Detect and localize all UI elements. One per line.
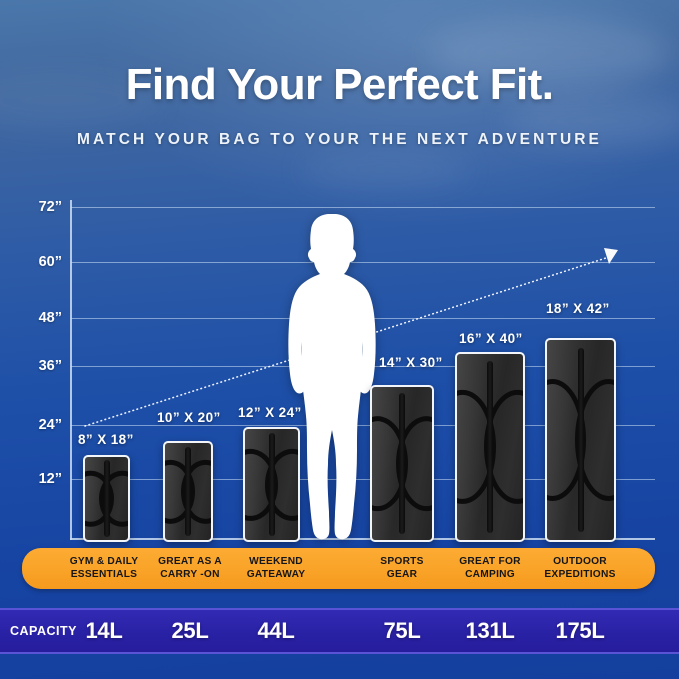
bag-size-label-5: 16” X 40” [459,331,523,346]
category-label-4: SPORTS GEAR [380,556,423,581]
size-comparison-chart: 72”60”48”36”24”12” 8” X 18”10” X 20”12” … [0,0,679,545]
y-axis-tick-label: 48” [12,310,62,326]
bag-size-label-1: 8” X 18” [78,432,134,447]
capacity-value-2: 25L [171,618,208,644]
bag-spine [399,393,405,534]
category-label-6: OUTDOOR EXPEDITIONS [544,556,615,581]
infographic-canvas: Find Your Perfect Fit. MATCH YOUR BAG TO… [0,0,679,679]
bag-spine [487,361,493,532]
y-axis-tick-label: 72” [12,199,62,215]
bag-6[interactable] [545,338,616,542]
capacity-value-6: 175L [556,618,605,644]
y-axis-tick-label: 60” [12,254,62,270]
capacity-value-3: 44L [257,618,294,644]
category-label-1: GYM & DAILY ESSENTIALS [70,556,139,581]
bag-size-label-2: 10” X 20” [157,410,221,425]
y-axis-tick-label: 12” [12,471,62,487]
bag-spine [578,348,584,532]
capacity-value-4: 75L [383,618,420,644]
bag-spine [185,447,191,536]
bag-2[interactable] [163,441,213,542]
category-bar: GYM & DAILY ESSENTIALSGREAT AS A CARRY -… [22,548,655,589]
category-label-3: WEEKEND GATEAWAY [247,556,306,581]
bag-4[interactable] [370,385,434,542]
bag-spine [269,433,275,535]
y-axis-tick-label: 24” [12,417,62,433]
capacity-value-5: 131L [466,618,515,644]
bag-spine [104,460,110,536]
capacity-band: CAPACITY 14L25L44L75L131L175L [0,608,679,654]
category-label-5: GREAT FOR CAMPING [459,556,520,581]
y-axis-tick-label: 36” [12,358,62,374]
bag-size-label-4: 14” X 30” [379,355,443,370]
capacity-row-label: CAPACITY [10,624,77,638]
y-axis-line [70,200,72,540]
bag-3[interactable] [243,427,300,542]
bag-1[interactable] [83,455,130,542]
bag-5[interactable] [455,352,525,542]
category-label-2: GREAT AS A CARRY -ON [158,556,222,581]
gridline-72 [71,207,655,208]
bag-size-label-3: 12” X 24” [238,405,302,420]
capacity-value-1: 14L [85,618,122,644]
bag-size-label-6: 18” X 42” [546,301,610,316]
